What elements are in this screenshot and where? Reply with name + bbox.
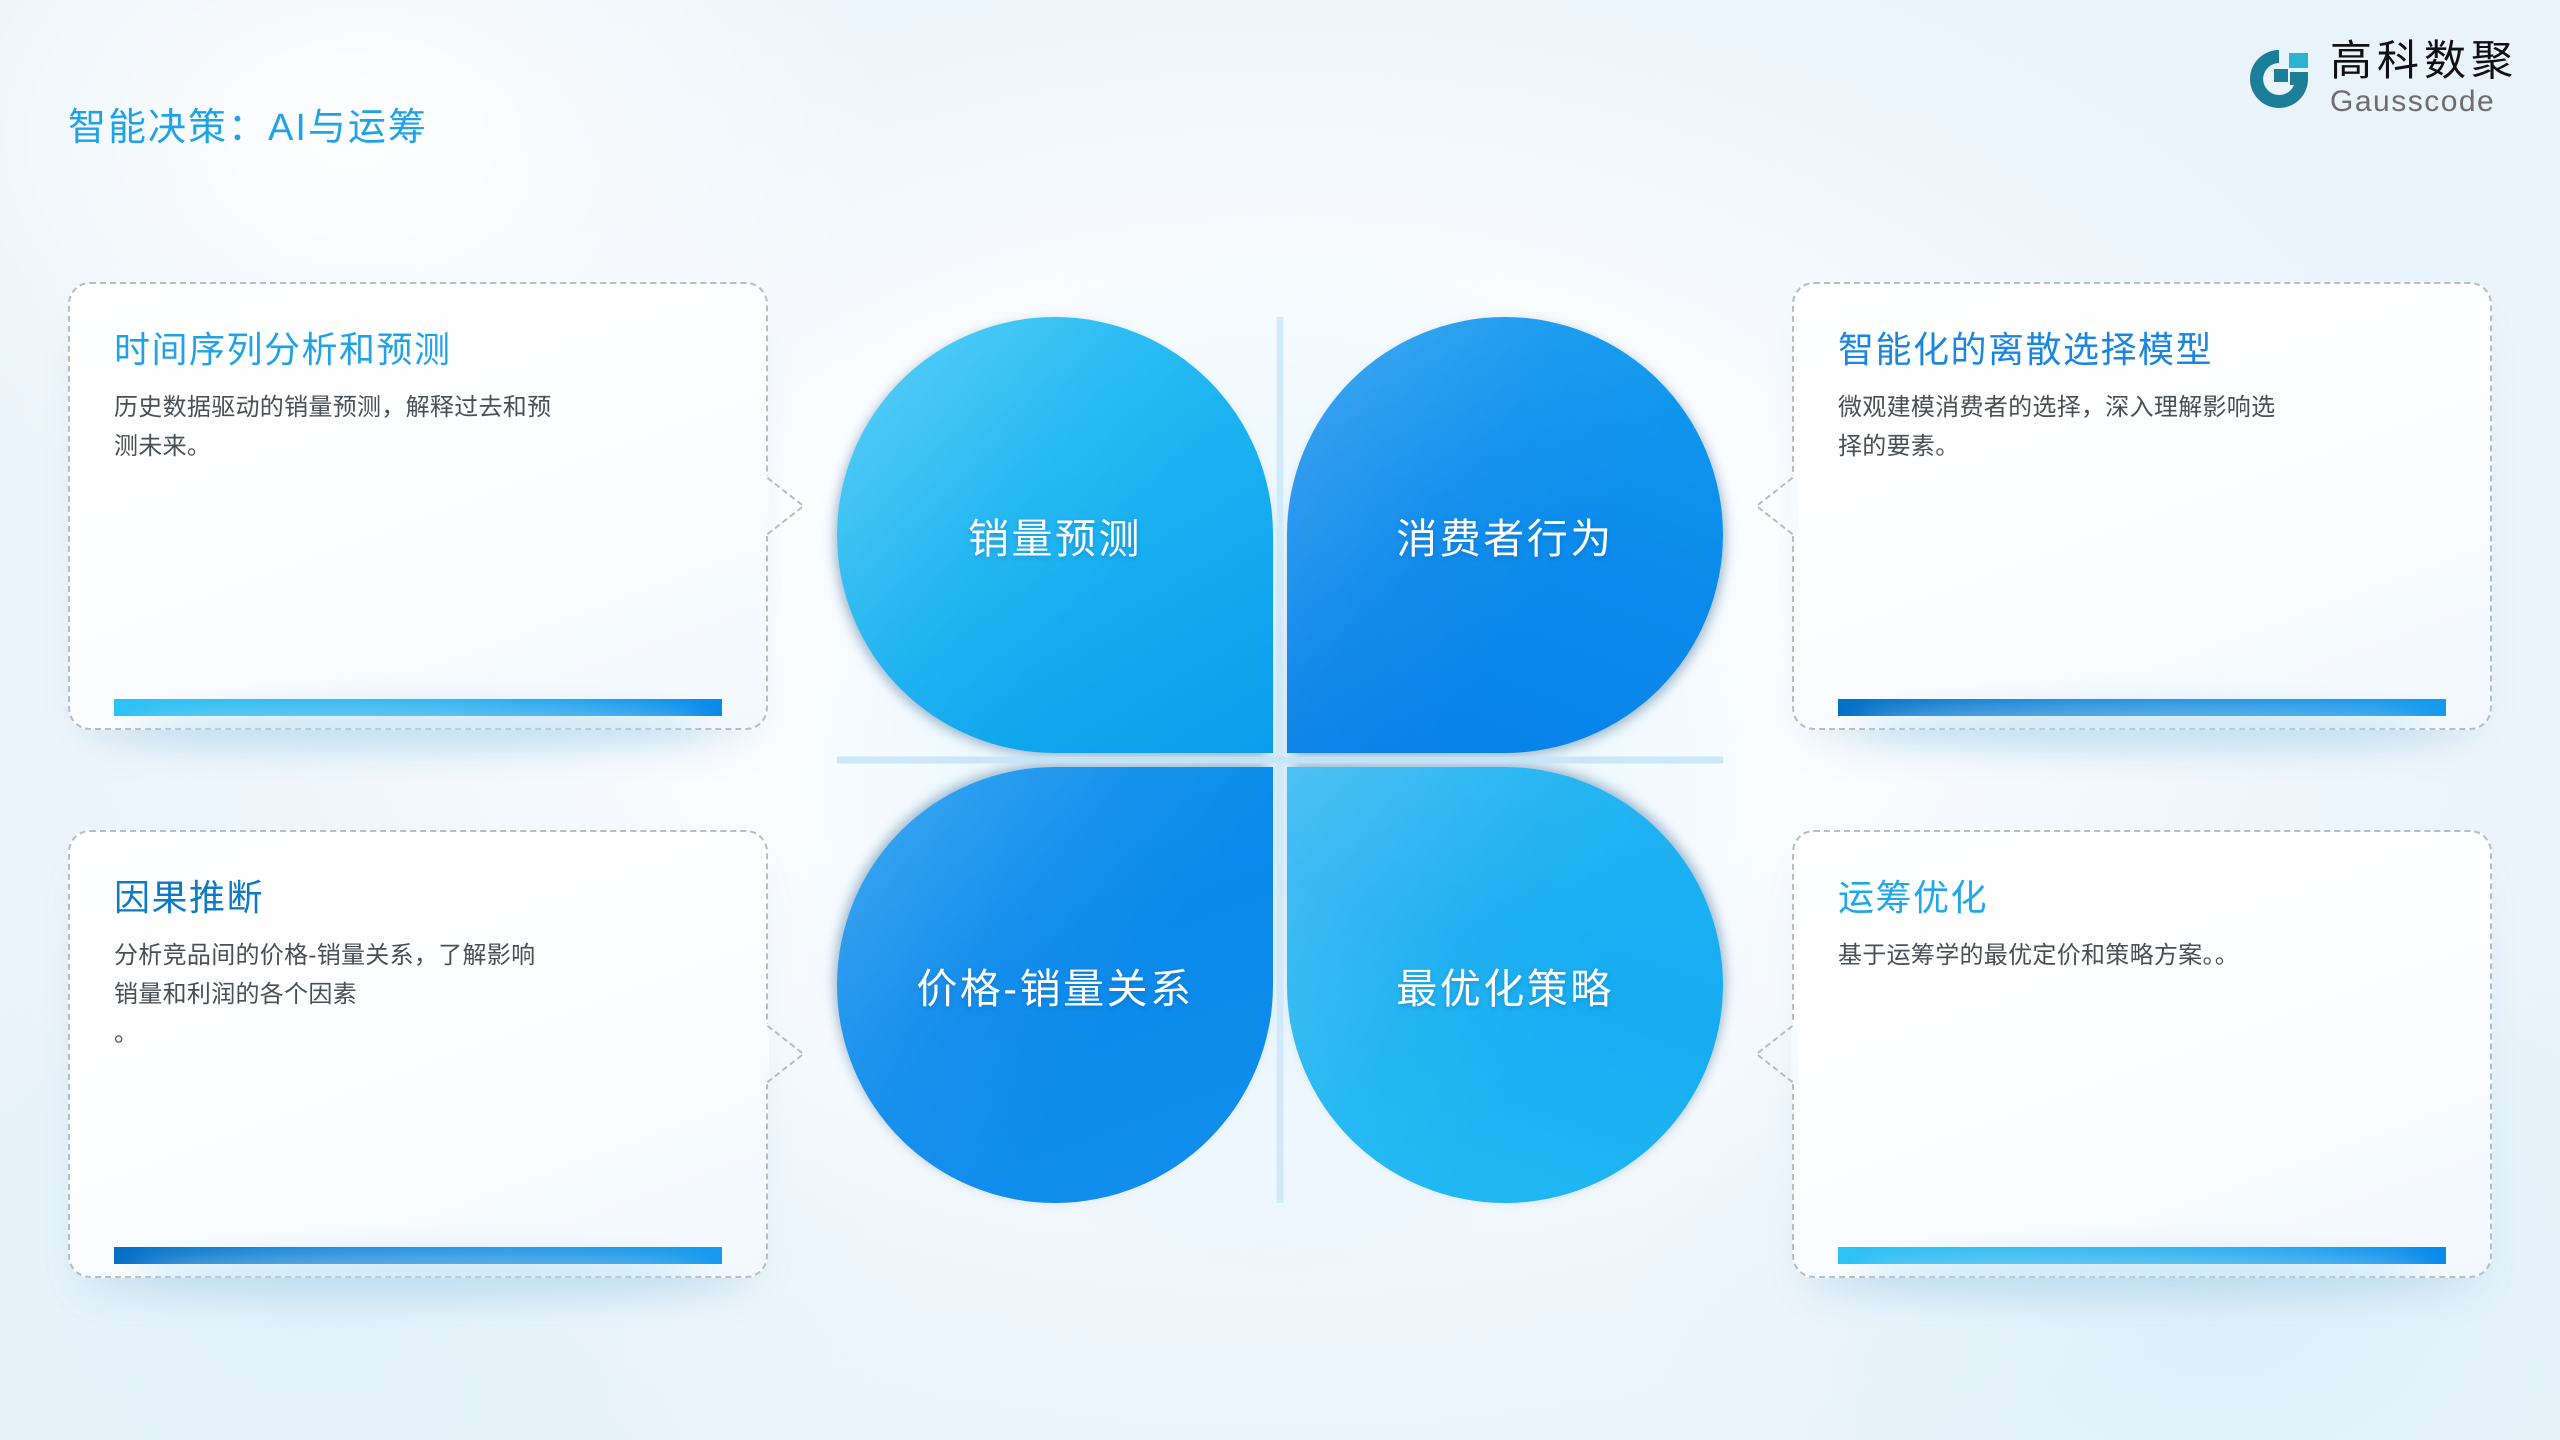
card-body: 历史数据驱动的销量预测，解释过去和预 测未来。 <box>114 389 702 467</box>
petal-seam-vertical <box>1277 317 1284 1203</box>
card-body: 基于运筹学的最优定价和策略方案。。 <box>1838 937 2426 976</box>
connector-chevron-icon <box>1752 477 1792 535</box>
logo-cn-name: 高科数聚 <box>2330 40 2518 82</box>
card-accent-bar <box>1838 699 2446 716</box>
petal-price-volume-relationship[interactable]: 价格-销量关系 <box>837 767 1273 1203</box>
petal-consumer-behavior[interactable]: 消费者行为 <box>1287 317 1723 753</box>
petal-seam-horizontal <box>837 757 1723 764</box>
card-accent-bar <box>1838 1247 2446 1264</box>
card-body: 分析竞品间的价格-销量关系，了解影响 销量和利润的各个因素 。 <box>114 937 702 1054</box>
logo-en-name: Gausscode <box>2330 87 2518 117</box>
logo-wordmark: 高科数聚 Gausscode <box>2330 40 2518 117</box>
connector-chevron-icon <box>768 477 808 535</box>
card-time-series-analysis[interactable]: 时间序列分析和预测 历史数据驱动的销量预测，解释过去和预 测未来。 <box>68 282 768 730</box>
card-title: 时间序列分析和预测 <box>114 328 722 371</box>
connector-chevron-icon <box>768 1025 808 1083</box>
page-title: 智能决策：AI与运筹 <box>68 96 428 151</box>
card-operations-optimization[interactable]: 运筹优化 基于运筹学的最优定价和策略方案。。 <box>1792 830 2492 1278</box>
card-accent-bar <box>114 699 722 716</box>
card-content: 智能化的离散选择模型 微观建模消费者的选择，深入理解影响选 择的要素。 <box>1794 284 2490 728</box>
card-accent-bar <box>114 1247 722 1264</box>
card-discrete-choice-model[interactable]: 智能化的离散选择模型 微观建模消费者的选择，深入理解影响选 择的要素。 <box>1792 282 2492 730</box>
petal-label: 消费者行为 <box>1396 505 1614 565</box>
card-body: 微观建模消费者的选择，深入理解影响选 择的要素。 <box>1838 389 2426 467</box>
flower-diagram: 销量预测 消费者行为 价格-销量关系 最优化策略 <box>837 317 1723 1203</box>
petal-label: 最优化策略 <box>1396 955 1614 1015</box>
brand-logo: 高科数聚 Gausscode <box>2244 40 2518 117</box>
card-title: 因果推断 <box>114 876 722 919</box>
petal-label: 价格-销量关系 <box>916 955 1193 1015</box>
card-title: 运筹优化 <box>1838 876 2446 919</box>
card-title: 智能化的离散选择模型 <box>1838 328 2446 371</box>
petal-sales-forecast[interactable]: 销量预测 <box>837 317 1273 753</box>
card-content: 时间序列分析和预测 历史数据驱动的销量预测，解释过去和预 测未来。 <box>70 284 766 728</box>
petal-label: 销量预测 <box>968 505 1142 565</box>
card-causal-inference[interactable]: 因果推断 分析竞品间的价格-销量关系，了解影响 销量和利润的各个因素 。 <box>68 830 768 1278</box>
petal-optimal-strategy[interactable]: 最优化策略 <box>1287 767 1723 1203</box>
card-content: 运筹优化 基于运筹学的最优定价和策略方案。。 <box>1794 832 2490 1276</box>
gausscode-g-mark-icon <box>2244 44 2314 114</box>
connector-chevron-icon <box>1752 1025 1792 1083</box>
card-content: 因果推断 分析竞品间的价格-销量关系，了解影响 销量和利润的各个因素 。 <box>70 832 766 1276</box>
